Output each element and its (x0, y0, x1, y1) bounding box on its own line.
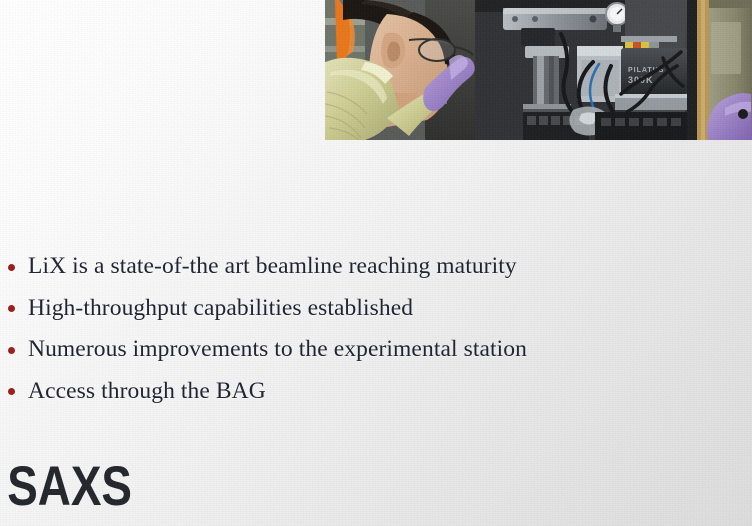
bullet-dot-icon (8, 305, 15, 312)
bullet-text: Numerous improvements to the experimenta… (28, 338, 527, 362)
bullet-dot-icon (8, 347, 15, 354)
list-item: Numerous improvements to the experimenta… (0, 329, 700, 371)
beamline-photo-illustration: PILATUS 300K (325, 0, 752, 140)
list-item: Access through the BAG (0, 371, 700, 413)
presentation-slide: PILATUS 300K (0, 0, 752, 526)
bullet-dot-icon (8, 264, 15, 271)
bullet-text: High-throughput capabilities established (28, 297, 413, 321)
bullet-dot-icon (8, 388, 15, 395)
beamline-photo: PILATUS 300K (325, 0, 752, 140)
list-item: LiX is a state-of-the art beamline reach… (0, 246, 700, 288)
saxs-logo-wordmark: SAXS (6, 455, 156, 515)
bullet-text: Access through the BAG (28, 380, 266, 404)
bullet-text: LiX is a state-of-the art beamline reach… (28, 255, 517, 279)
list-item: High-throughput capabilities established (0, 288, 700, 330)
saxs-logo: SAXS (6, 455, 156, 515)
bullet-list: LiX is a state-of-the art beamline reach… (0, 246, 700, 412)
saxs-logo-text: SAXS (7, 455, 132, 515)
